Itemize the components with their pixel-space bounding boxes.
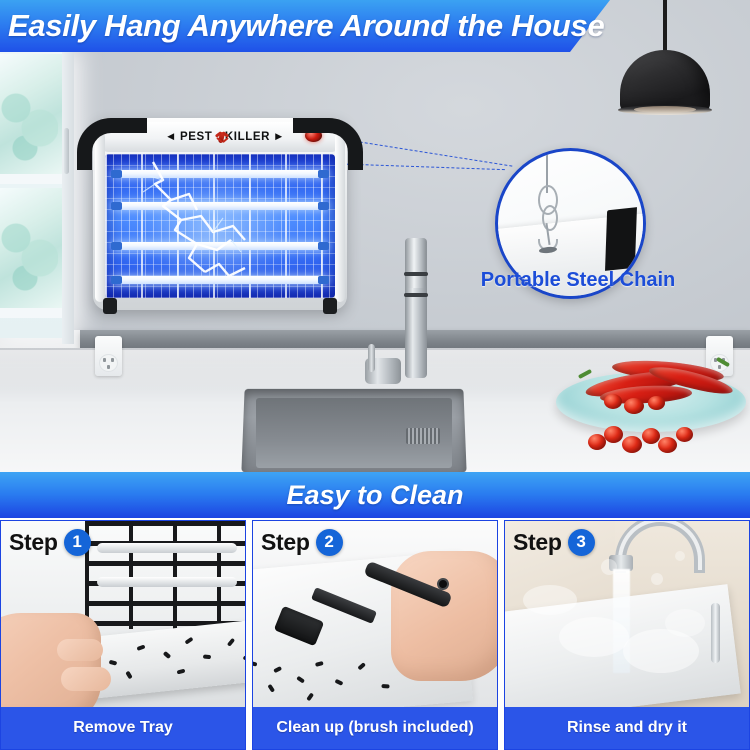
cherry-tomato	[648, 396, 665, 410]
step-2-caption: Clean up (brush included)	[276, 719, 473, 737]
window-foliage-lower	[0, 198, 58, 298]
dead-insect	[163, 651, 172, 659]
dead-insect	[335, 679, 344, 686]
faucet-ring-lower	[404, 293, 428, 297]
dead-insect	[243, 655, 245, 662]
cherry-tomato	[604, 394, 622, 409]
outlet-hole	[718, 365, 721, 369]
cherry-tomato	[642, 428, 660, 444]
wall-outlet-left	[95, 336, 122, 376]
device-foot-left	[103, 298, 117, 314]
dead-insect	[137, 644, 146, 651]
faucet-lever	[368, 344, 375, 372]
step-panel-1: Step 1 Remove Tray	[0, 520, 246, 750]
water-droplet	[675, 551, 685, 561]
device-foot-right	[323, 298, 337, 314]
hand	[391, 551, 497, 681]
mid-banner: Easy to Clean	[0, 472, 750, 518]
dead-insect	[273, 666, 282, 673]
dead-insect	[227, 638, 235, 647]
step-panel-2: Step 2 Clean up (brush included)	[252, 520, 498, 750]
window-mullion-upper	[0, 174, 66, 184]
finger	[57, 639, 103, 661]
lamp-inner-glow	[634, 106, 696, 113]
cherry-tomato	[676, 427, 693, 442]
steps-row: Step 1 Remove Tray	[0, 520, 750, 750]
faucet-ring-upper	[404, 272, 428, 276]
dead-insect	[253, 661, 257, 667]
step-number: 3	[568, 529, 595, 556]
water-droplet	[651, 573, 663, 585]
top-banner-title: Easily Hang Anywhere Around the House	[8, 3, 608, 49]
step-label: Step	[9, 529, 58, 556]
uv-tube	[97, 543, 237, 553]
dead-insect	[306, 692, 314, 701]
window-foliage-upper	[0, 68, 58, 168]
finger	[61, 667, 111, 691]
step-3-caption-bar: Rinse and dry it	[505, 707, 749, 749]
tomato-cluster	[588, 424, 708, 456]
outlet-face	[99, 354, 118, 372]
device-handle-right	[293, 118, 363, 192]
step-1-badge: Step 1	[9, 527, 91, 557]
dead-insect	[315, 661, 324, 667]
dead-insect	[185, 637, 194, 645]
dead-insect	[109, 660, 118, 666]
secondary-faucet	[711, 603, 720, 663]
product-infographic: ◄ PEST KILLER ►	[0, 0, 750, 750]
water-splash	[559, 617, 629, 657]
brand-arrow-left: ◄	[165, 131, 177, 143]
cherry-tomato	[604, 426, 623, 443]
cherry-tomato	[622, 436, 642, 453]
dead-insect	[203, 654, 212, 659]
window-frame	[62, 44, 74, 344]
step-number: 1	[64, 529, 91, 556]
cherry-tomato	[624, 398, 644, 414]
water-splash	[523, 585, 577, 615]
sink-drain-grate	[406, 428, 440, 444]
zapper-grid-bars	[85, 521, 245, 629]
hero-kitchen-scene: ◄ PEST KILLER ►	[0, 0, 750, 472]
window-handle-icon	[64, 128, 69, 174]
dead-insect	[267, 684, 275, 693]
dead-insect	[357, 662, 366, 670]
step-number: 2	[316, 529, 343, 556]
chain-link	[542, 205, 558, 231]
bug-zapper-device: ◄ PEST KILLER ►	[77, 118, 363, 310]
dead-insect	[381, 684, 389, 688]
uv-tube	[97, 577, 237, 587]
step-2-badge: Step 2	[261, 527, 343, 557]
top-banner: Easily Hang Anywhere Around the House	[0, 0, 750, 52]
callout-label: Portable Steel Chain	[448, 266, 708, 294]
device-brand-logo: ◄ PEST KILLER ►	[165, 128, 285, 146]
step-1-caption-bar: Remove Tray	[1, 707, 245, 749]
device-handle-left	[77, 118, 147, 192]
brand-arrow-right: ►	[273, 131, 285, 143]
step-panel-3: Step 3 Rinse and dry it	[504, 520, 750, 750]
mosquito-icon	[215, 131, 221, 144]
outlet-hole	[111, 358, 114, 362]
water-splash	[665, 609, 705, 637]
mid-banner-title: Easy to Clean	[286, 480, 463, 511]
step-3-caption: Rinse and dry it	[567, 719, 687, 737]
step-label: Step	[261, 529, 310, 556]
window-mullion-lower	[0, 308, 66, 318]
step-2-caption-bar: Clean up (brush included)	[253, 707, 497, 749]
water-droplet	[601, 559, 617, 575]
callout-dark-edge	[605, 207, 637, 271]
outlet-hole	[103, 358, 106, 362]
dead-insect	[177, 669, 185, 675]
step-label: Step	[513, 529, 562, 556]
brand-text-killer: KILLER	[225, 131, 270, 143]
dead-insect	[125, 671, 132, 680]
step-1-caption: Remove Tray	[73, 719, 173, 737]
dead-insect	[296, 676, 305, 684]
outlet-hole	[107, 365, 110, 369]
cherry-tomato	[658, 437, 677, 453]
step-3-badge: Step 3	[513, 527, 595, 557]
hand	[1, 613, 101, 709]
faucet-pulldown-head	[406, 238, 426, 288]
brand-text-pest: PEST	[180, 131, 212, 143]
